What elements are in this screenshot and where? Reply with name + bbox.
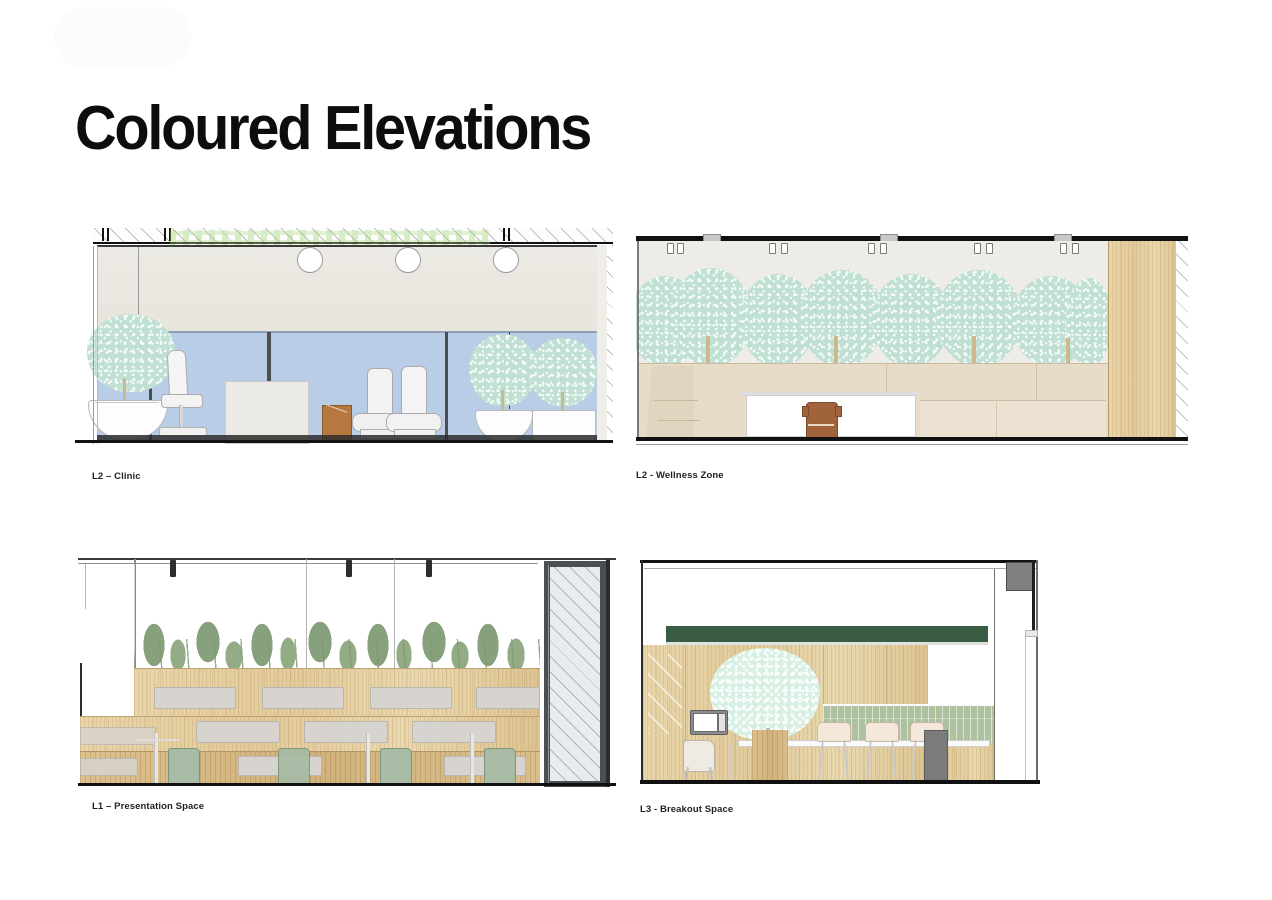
upper-wall <box>97 247 609 332</box>
desk-tablet <box>304 721 388 743</box>
elevation-caption: L1 – Presentation Space <box>92 801 204 812</box>
tier-back-top-line <box>134 668 540 669</box>
grey-appliance-unit <box>924 730 948 783</box>
elevation-drawing-l1-presentation-space <box>78 555 616 790</box>
ceiling-bracket <box>164 228 166 241</box>
ceiling-bracket <box>508 228 510 241</box>
end-wall <box>597 245 607 443</box>
floor-slab <box>636 437 1188 441</box>
green-bulkhead-band <box>666 626 988 642</box>
timber-panel-edge <box>1108 241 1109 441</box>
island-panel <box>752 730 788 781</box>
left-panel-edge <box>85 564 86 609</box>
glazing-mullion <box>445 332 448 443</box>
desk-tablet <box>370 687 452 709</box>
glazed-door-inner-edge <box>548 565 549 783</box>
glazing-head-line <box>97 331 597 333</box>
spotlight-icon <box>1072 243 1079 254</box>
elevation-panel-l3-breakout-space: L3 - Breakout Space <box>640 558 1052 790</box>
elevation-caption: L2 - Wellness Zone <box>636 470 724 481</box>
elevation-caption: L3 - Breakout Space <box>640 804 733 815</box>
spotlight-icon <box>868 243 875 254</box>
floor-slab <box>640 780 1040 784</box>
tile-top-edge <box>823 704 995 706</box>
downlight-icon <box>346 560 352 577</box>
tree-foliage <box>1066 278 1112 366</box>
bar-stool-seat <box>865 722 899 742</box>
stepped-seating-line <box>658 420 700 421</box>
floor-slab <box>78 783 616 786</box>
stepped-seating-line <box>654 400 698 401</box>
task-chair <box>380 748 412 786</box>
downlight-icon <box>170 560 176 577</box>
elevation-caption: L2 – Clinic <box>92 471 141 482</box>
left-panel-edge-dark <box>80 663 82 717</box>
elevation-drawing-l3-breakout-space <box>640 558 1052 790</box>
floor-shadow <box>97 435 597 440</box>
spotlight-icon <box>1060 243 1067 254</box>
logo-watermark <box>55 8 190 66</box>
left-edge-line-inner <box>97 246 98 444</box>
timber-panel-seam <box>886 645 887 705</box>
page-title: Coloured Elevations <box>75 98 590 160</box>
elevation-panel-l2-wellness-zone: L2 - Wellness Zone <box>636 232 1188 447</box>
left-edge-line <box>93 246 94 444</box>
end-wall-hatch <box>607 245 613 443</box>
spotlight-icon <box>974 243 981 254</box>
table-leg <box>730 744 732 781</box>
right-ledge <box>1025 630 1038 637</box>
chair-stem <box>366 733 370 783</box>
table-top-line <box>740 392 920 395</box>
counter-unit <box>920 400 1106 441</box>
tree-trunk <box>561 392 564 412</box>
microwave-panel <box>718 713 726 732</box>
brown-chair-arm <box>802 406 809 417</box>
desk-tablet <box>262 687 344 709</box>
spotlight-icon <box>677 243 684 254</box>
floor-datum-line <box>636 444 1188 445</box>
office-chair-column <box>179 405 183 429</box>
office-chair-back <box>167 350 189 401</box>
ceiling-slab <box>640 560 1036 563</box>
brown-chair-seat-line <box>808 424 834 426</box>
ceiling-bracket <box>107 228 109 241</box>
elevation-drawing-l2-wellness-zone <box>636 232 1188 447</box>
spotlight-icon <box>769 243 776 254</box>
desk-tablet <box>412 721 496 743</box>
pendant-light-icon <box>297 247 323 273</box>
left-edge-line <box>637 241 639 441</box>
right-wall-edge <box>994 569 995 781</box>
elevation-panel-l1-presentation-space: L1 – Presentation Space <box>78 555 616 790</box>
left-wall-panel <box>80 564 135 716</box>
spotlight-icon <box>880 243 887 254</box>
brown-chair-arm <box>835 406 842 417</box>
grey-block-edge <box>1032 560 1035 635</box>
pendant-light-icon <box>395 247 421 273</box>
timber-wall-panel <box>1108 241 1176 441</box>
brown-chair-back <box>806 402 838 440</box>
glazed-door-leaf <box>550 567 600 781</box>
elevation-drawing-l2-clinic <box>75 228 613 446</box>
pendant-light-icon <box>493 247 519 273</box>
grey-block-upper <box>1006 562 1034 591</box>
downlight-icon <box>426 560 432 577</box>
tree-trunk <box>501 390 504 412</box>
desk-tablet <box>196 721 280 743</box>
spotlight-icon <box>986 243 993 254</box>
spotlight-icon <box>667 243 674 254</box>
microwave-door <box>693 713 718 732</box>
right-reveal-line <box>1025 632 1026 782</box>
ceiling-bracket <box>102 228 104 241</box>
tier-middle-top-line <box>80 716 540 717</box>
bar-stool-seat <box>817 722 851 742</box>
ceiling-bracket <box>503 228 505 241</box>
planter-rim <box>95 402 159 403</box>
banquette-top-line <box>638 363 1108 364</box>
elevation-panel-l2-clinic: L2 – Clinic <box>75 228 613 446</box>
wall-reveal-dashed <box>648 654 682 734</box>
task-chair <box>278 748 310 786</box>
desk-tablet <box>80 727 156 745</box>
desk-tablet <box>154 687 236 709</box>
tree-foliage <box>87 314 175 392</box>
foliage-stems <box>134 639 540 669</box>
stepped-seating <box>646 366 694 440</box>
floor-slab <box>75 440 613 443</box>
spotlight-icon <box>781 243 788 254</box>
right-wall-region <box>995 569 1033 781</box>
right-edge-hatch <box>1176 241 1188 441</box>
timber-panel-seam <box>823 645 824 705</box>
right-column-line <box>1036 560 1038 784</box>
task-chair <box>484 748 516 786</box>
door-jamb-right <box>606 559 610 787</box>
task-chair <box>168 748 200 786</box>
tree-foliage <box>936 270 1022 366</box>
desk-tablet <box>476 687 540 709</box>
counter-seam <box>996 402 997 438</box>
chair-arm-line <box>136 739 180 741</box>
desk-tablet <box>80 758 138 776</box>
chair-stem <box>470 733 474 783</box>
